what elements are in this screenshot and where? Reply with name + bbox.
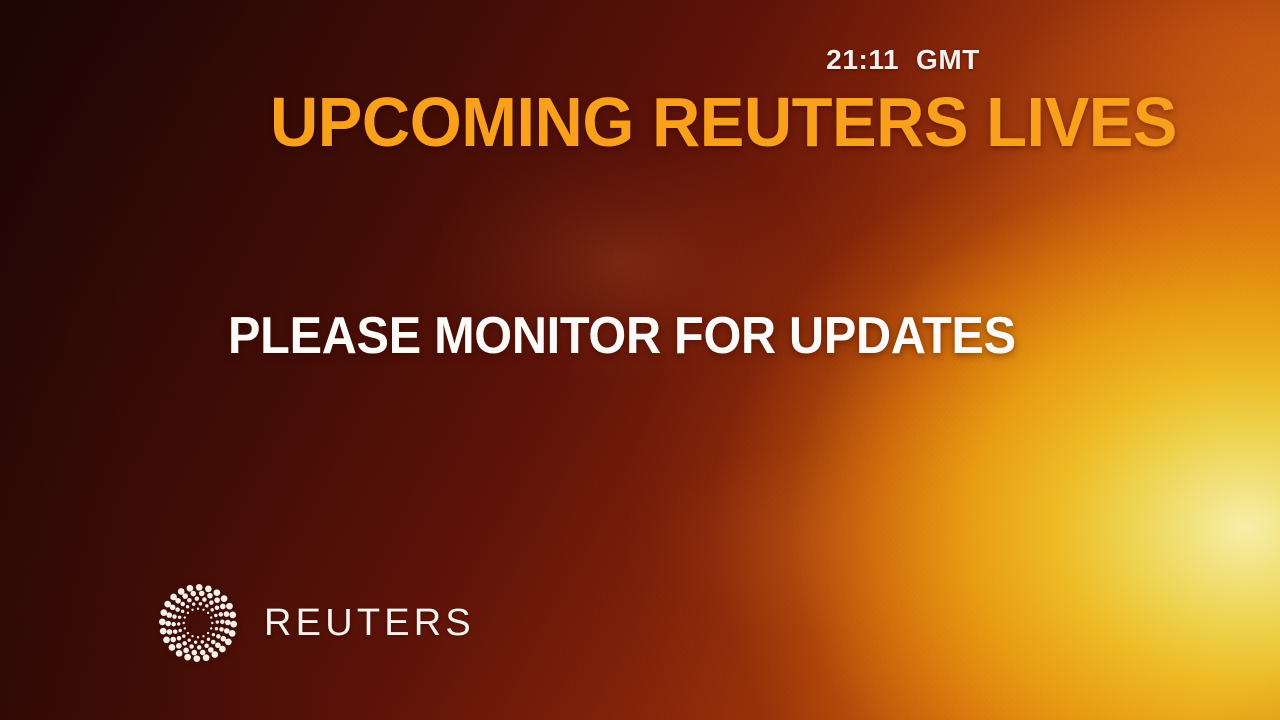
reuters-broadcast-slate: 21:11 GMT UPCOMING REUTERS LIVES PLEASE … [0,0,1280,720]
reuters-wordmark: REUTERS [264,603,475,643]
show-title: UPCOMING REUTERS LIVES [270,83,1177,161]
broadcast-timestamp: 21:11 GMT [0,44,980,76]
headline-message: PLEASE MONITOR FOR UPDATES [228,306,1016,366]
reuters-dot-spiral-icon [156,581,240,665]
reuters-logo-lockup: REUTERS [156,581,475,665]
